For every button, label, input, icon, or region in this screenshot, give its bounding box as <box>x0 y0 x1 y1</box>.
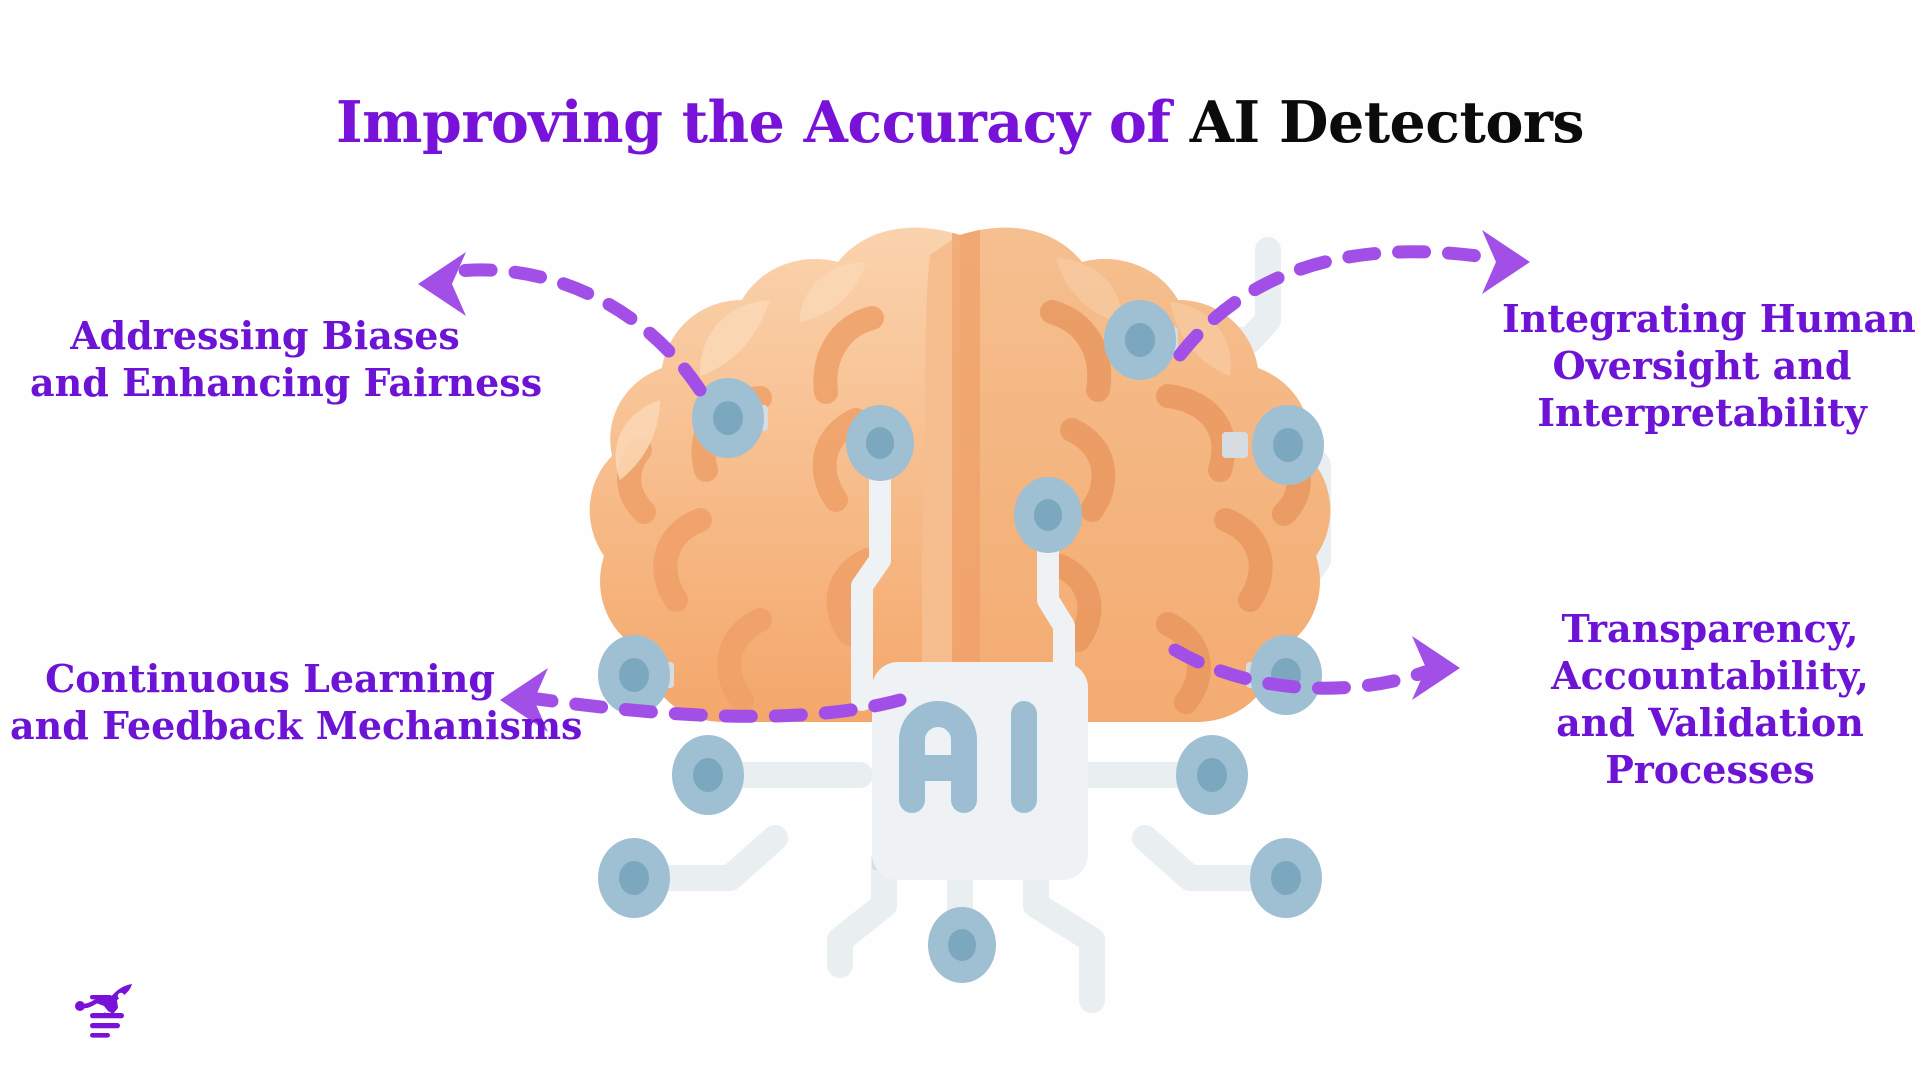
circuit-traces-overlay <box>862 455 1064 700</box>
infographic-canvas: Improving the Accuracy of AI Detectors A… <box>0 0 1920 1080</box>
callout-line: Continuous Learning <box>10 655 530 702</box>
ai-chip <box>872 662 1088 880</box>
arrow-top-right <box>1180 252 1492 355</box>
circuit-nodes <box>598 300 1324 983</box>
title-black-part: AI Detectors <box>1190 89 1584 156</box>
rocket-icon <box>75 984 132 1038</box>
callout-continuous-learning: Continuous Learning and Feedback Mechani… <box>10 655 530 749</box>
callout-line: and Feedback Mechanisms <box>10 702 530 749</box>
callout-line: and Enhancing Fairness <box>30 359 500 406</box>
circuit-traces-group <box>640 250 1318 1000</box>
chip-ai-label <box>912 714 1024 800</box>
arrow-bottom-left <box>530 698 900 716</box>
callout-line: Interpretability <box>1502 389 1902 436</box>
callout-line: Transparency, <box>1545 605 1875 652</box>
ai-brain-circuit-illustration <box>0 0 1920 1080</box>
page-title: Improving the Accuracy of AI Detectors <box>0 92 1920 155</box>
callout-line: Processes <box>1545 746 1875 793</box>
callout-line: Integrating Human <box>1502 295 1902 342</box>
callout-transparency-accountability: Transparency, Accountability, and Valida… <box>1545 605 1875 793</box>
arrow-bottom-right <box>1175 650 1425 688</box>
callout-line: Oversight and <box>1502 342 1902 389</box>
connector-stubs <box>636 327 1284 938</box>
rocket-lines-logo <box>72 978 148 1040</box>
callout-line: Accountability, <box>1545 652 1875 699</box>
brain-shape <box>590 200 1360 760</box>
callout-integrating-human-oversight: Integrating Human Oversight and Interpre… <box>1502 295 1902 436</box>
arrow-heads <box>418 230 1530 732</box>
callout-line: and Validation <box>1545 699 1875 746</box>
callout-addressing-biases: Addressing Biases and Enhancing Fairness <box>30 312 500 406</box>
title-purple-part: Improving the Accuracy of <box>336 89 1190 156</box>
arrows-group <box>450 252 1492 717</box>
callout-line: Addressing Biases <box>30 312 500 359</box>
